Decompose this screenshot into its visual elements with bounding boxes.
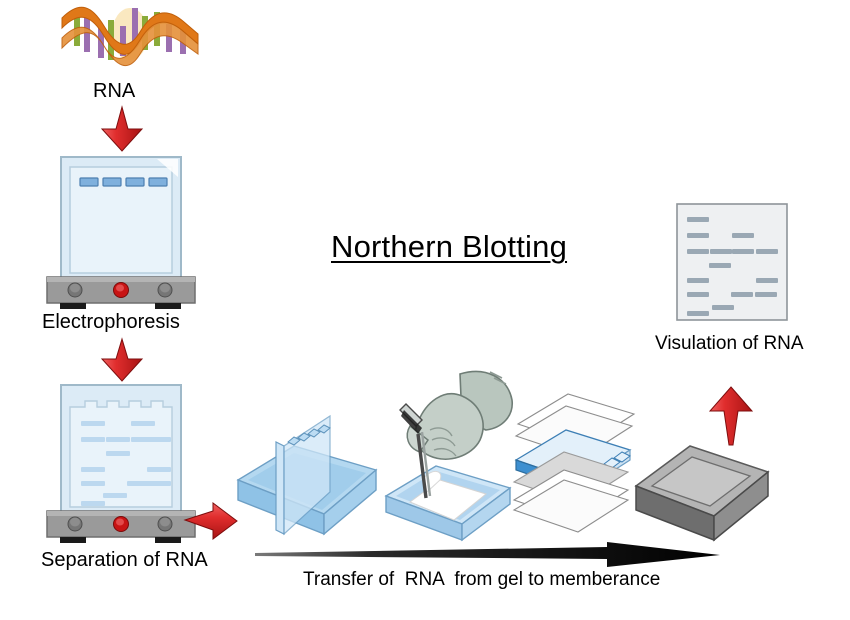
rna-label: RNA <box>93 80 135 102</box>
buffer-tray-with-gel-icon <box>232 418 382 543</box>
gray-cassette-icon <box>632 438 772 548</box>
red-arrow-down-icon <box>98 105 146 153</box>
transfer-caption: Transfer of RNA from gel to memberance <box>303 570 660 591</box>
separation-label: Separation of RNA <box>41 549 208 571</box>
electrophoresis-label: Electrophoresis <box>42 311 180 333</box>
visualization-label: Visulation of RNA <box>655 334 804 355</box>
black-process-arrow-icon <box>255 542 720 568</box>
red-arrow-up-icon <box>706 385 756 447</box>
blotting-layer-stack-icon <box>512 386 642 531</box>
red-arrow-right-icon <box>183 500 239 542</box>
rna-helix-icon <box>58 4 204 68</box>
gloved-hand-forceps-icon <box>382 370 532 542</box>
page-title: Northern Blotting <box>331 230 567 264</box>
separation-gel-box-icon <box>45 383 205 543</box>
membrane-film-icon <box>676 203 788 321</box>
northern-blotting-figure: RNA <box>0 0 850 620</box>
red-arrow-down-icon <box>98 337 146 383</box>
electrophoresis-gel-box-icon <box>45 155 205 310</box>
